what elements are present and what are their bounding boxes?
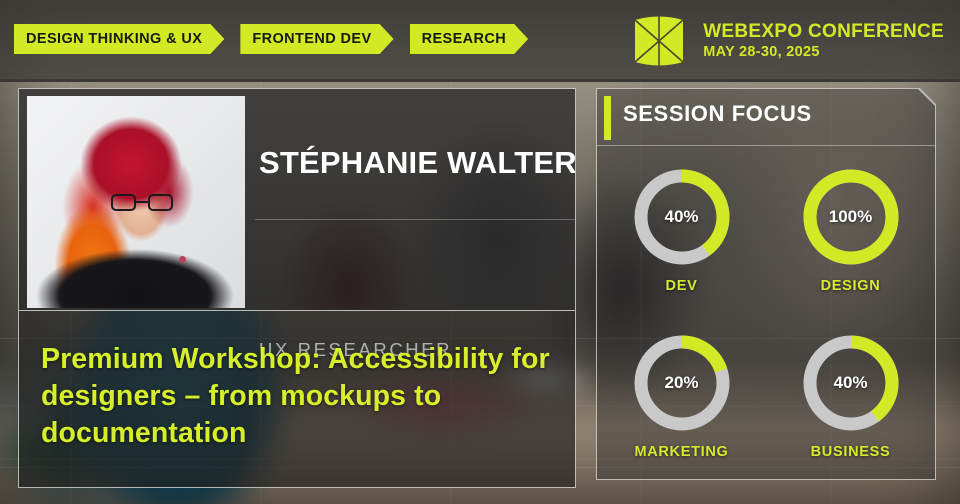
topic-tag-label: FRONTEND DEV [252, 31, 371, 47]
donut-value: 40% [630, 165, 734, 269]
donut-label: DEV [666, 278, 698, 294]
speaker-portrait-photo [27, 96, 245, 308]
header-bottom-edge [0, 79, 960, 82]
hexagon-webexpo-logo-icon [629, 12, 689, 70]
topic-tag-design-thinking-ux[interactable]: DESIGN THINKING & UX [14, 24, 224, 54]
banner-stage: DESIGN THINKING & UX FRONTEND DEV RESEAR… [0, 0, 960, 504]
focus-donut-dev: 40%DEV [597, 146, 766, 313]
topic-tag-list: DESIGN THINKING & UX FRONTEND DEV RESEAR… [14, 24, 528, 54]
topic-tag-frontend-dev[interactable]: FRONTEND DEV [240, 24, 393, 54]
speaker-card-bottom: Premium Workshop: Accessibility for desi… [19, 311, 575, 487]
donut-value: 40% [799, 331, 903, 435]
focus-donut-grid: 40%DEV100%DESIGN20%MARKETING40%BUSINESS [597, 146, 935, 479]
donut-label: BUSINESS [811, 444, 891, 460]
speaker-name-divider [255, 219, 575, 220]
donut-chart: 100% [799, 165, 903, 269]
donut-chart: 40% [630, 165, 734, 269]
speaker-card-top: STÉPHANIE WALTER UX RESEARCHER [19, 89, 575, 310]
glasses-icon [111, 194, 173, 211]
conference-date: MAY 28-30, 2025 [703, 45, 944, 60]
header-bar: DESIGN THINKING & UX FRONTEND DEV RESEAR… [0, 0, 960, 80]
speaker-name: STÉPHANIE WALTER [259, 145, 557, 181]
session-focus-accent-bar [604, 96, 611, 140]
focus-donut-marketing: 20%MARKETING [597, 313, 766, 480]
focus-donut-business: 40%BUSINESS [766, 313, 935, 480]
topic-tag-label: RESEARCH [422, 31, 507, 47]
donut-label: DESIGN [821, 278, 881, 294]
session-focus-heading: SESSION FOCUS [623, 101, 812, 127]
topic-tag-research[interactable]: RESEARCH [410, 24, 529, 54]
donut-label: MARKETING [634, 444, 728, 460]
topic-tag-label: DESIGN THINKING & UX [26, 31, 202, 47]
donut-chart: 40% [799, 331, 903, 435]
donut-value: 100% [799, 165, 903, 269]
speaker-card[interactable]: STÉPHANIE WALTER UX RESEARCHER Premium W… [18, 88, 576, 488]
focus-donut-design: 100%DESIGN [766, 146, 935, 313]
donut-value: 20% [630, 331, 734, 435]
conference-brand-text: WEBEXPO CONFERENCE MAY 28-30, 2025 [703, 22, 944, 60]
lapel-pin [179, 256, 186, 263]
session-focus-panel[interactable]: SESSION FOCUS 40%DEV100%DESIGN20%MARKETI… [596, 88, 936, 480]
session-title: Premium Workshop: Accessibility for desi… [41, 341, 553, 452]
conference-title: WEBEXPO CONFERENCE [703, 22, 944, 42]
donut-chart: 20% [630, 331, 734, 435]
conference-brand[interactable]: WEBEXPO CONFERENCE MAY 28-30, 2025 [629, 12, 944, 70]
